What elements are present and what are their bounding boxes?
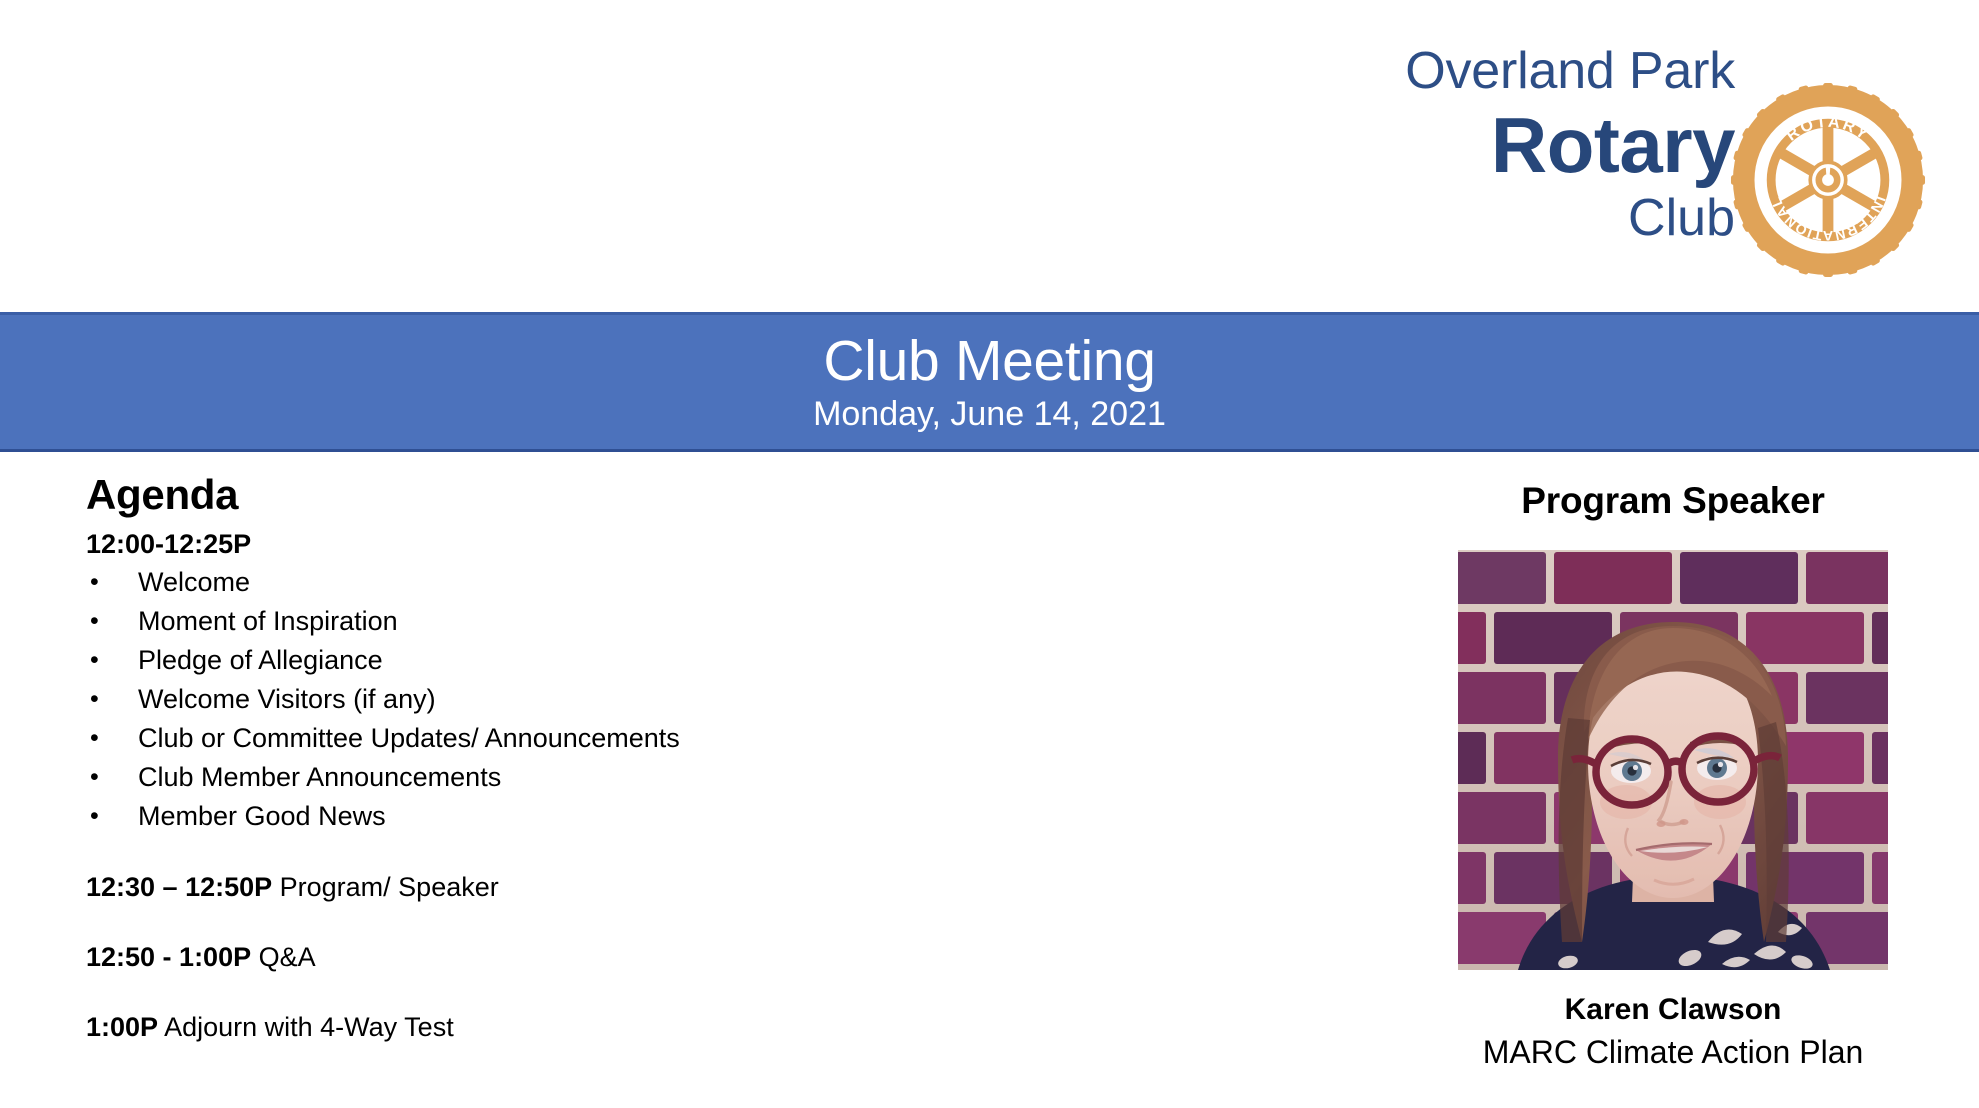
bullet-dot-icon: • [86,797,138,836]
bullet-dot-icon: • [86,719,138,758]
agenda-timed-item: 12:50 - 1:00P Q&A [86,939,1376,976]
agenda-timed-item-time: 1:00P [86,1012,158,1042]
agenda-timed-item-label: Q&A [251,942,316,972]
list-item-label: Club or Committee Updates/ Announcements [138,719,680,758]
speaker-topic: MARC Climate Action Plan [1418,1030,1928,1074]
agenda-timed-item: 12:30 – 12:50P Program/ Speaker [86,869,1376,906]
logo-line-club: Club [1400,188,1735,248]
list-item-label: Club Member Announcements [138,758,501,797]
list-item: • Pledge of Allegiance [86,641,1376,680]
banner-title: Club Meeting [823,330,1155,392]
agenda-timed-item-time: 12:50 - 1:00P [86,942,251,972]
program-speaker-section: Program Speaker [1418,478,1928,523]
bullet-dot-icon: • [86,602,138,641]
overland-park-rotary-club-logo: Overland Park Rotary Club [1400,40,1940,290]
agenda-timed-item-time: 12:30 – 12:50P [86,872,272,902]
speaker-headshot-photo [1458,550,1888,970]
list-item-label: Welcome Visitors (if any) [138,680,436,719]
agenda-timed-item-label: Program/ Speaker [272,872,499,902]
rotary-international-wheel-icon: ROTARY INTERNATIONAL [1730,82,1926,278]
logo-wordmark: Overland Park Rotary Club [1400,40,1735,248]
agenda-bullet-list: • Welcome • Moment of Inspiration • Pled… [86,563,1376,836]
list-item: • Welcome [86,563,1376,602]
list-item-label: Moment of Inspiration [138,602,398,641]
banner-date: Monday, June 14, 2021 [813,394,1166,434]
agenda-section: Agenda 12:00-12:25P • Welcome • Moment o… [86,470,1376,1046]
list-item: • Club or Committee Updates/ Announcemen… [86,719,1376,758]
meeting-title-banner: Club Meeting Monday, June 14, 2021 [0,312,1979,452]
list-item-label: Welcome [138,563,250,602]
speaker-name: Karen Clawson [1418,990,1928,1030]
bullet-dot-icon: • [86,758,138,797]
list-item-label: Member Good News [138,797,386,836]
agenda-timed-item: 1:00P Adjourn with 4-Way Test [86,1009,1376,1046]
speaker-caption: Karen Clawson MARC Climate Action Plan [1418,990,1928,1074]
list-item: • Welcome Visitors (if any) [86,680,1376,719]
list-item: • Club Member Announcements [86,758,1376,797]
logo-line-rotary: Rotary [1400,102,1735,188]
agenda-first-block-time: 12:00-12:25P [86,526,1376,563]
agenda-timed-item-label: Adjourn with 4-Way Test [158,1012,454,1042]
bullet-dot-icon: • [86,680,138,719]
slide-canvas: Overland Park Rotary Club [0,0,1979,1108]
agenda-heading: Agenda [86,470,1376,520]
program-speaker-heading: Program Speaker [1418,478,1928,523]
list-item: • Member Good News [86,797,1376,836]
logo-line-overland-park: Overland Park [1400,40,1735,102]
list-item: • Moment of Inspiration [86,602,1376,641]
bullet-dot-icon: • [86,563,138,602]
bullet-dot-icon: • [86,641,138,680]
list-item-label: Pledge of Allegiance [138,641,383,680]
